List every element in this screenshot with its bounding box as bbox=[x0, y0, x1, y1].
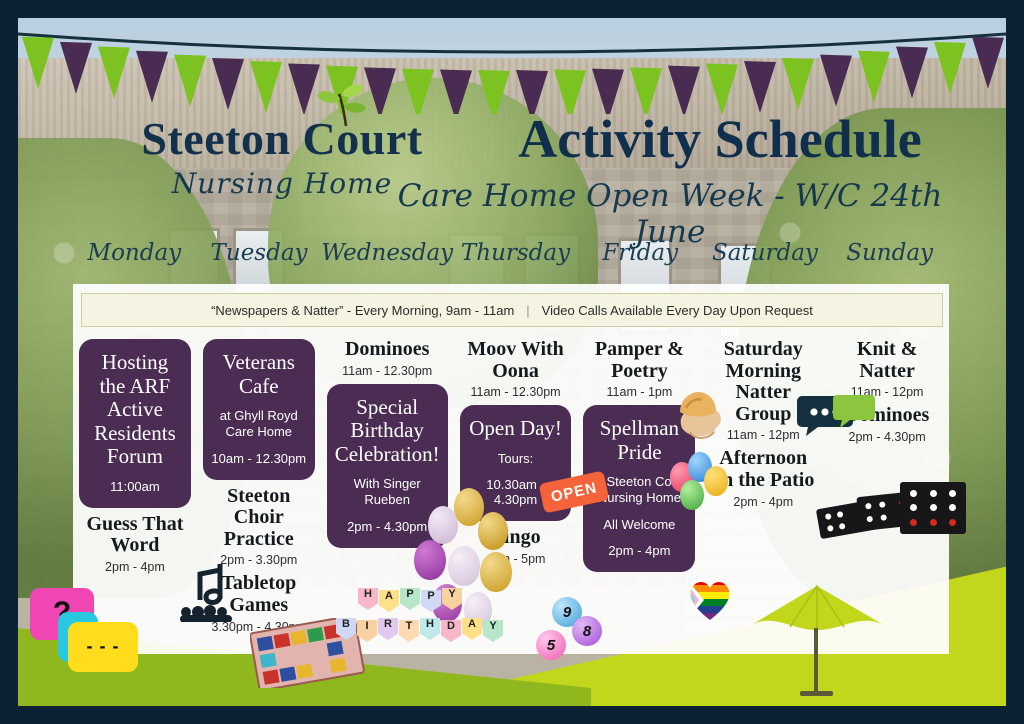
banner-left-text: “Newspapers & Natter” - Every Morning, 9… bbox=[211, 303, 514, 318]
event-title: Open Day! bbox=[468, 417, 564, 441]
dominoes-group bbox=[818, 478, 968, 550]
event-title: Special Birthday Celebration! bbox=[335, 396, 440, 467]
event-time: 11am - 12.30pm bbox=[327, 364, 448, 378]
bunting-flag: T bbox=[399, 620, 419, 642]
event-subtitle-2: All Welcome bbox=[591, 517, 687, 533]
balloon bbox=[478, 512, 508, 550]
day-header-saturday: Saturday bbox=[703, 240, 828, 266]
event-subtitle: at Ghyll Royd Care Home bbox=[211, 408, 307, 441]
event-wednesday-0[interactable]: Dominoes11am - 12.30pm bbox=[327, 339, 448, 378]
event-title: Pamper & Poetry bbox=[583, 339, 695, 382]
open-tag-label: OPEN bbox=[549, 479, 598, 505]
domino-tile bbox=[900, 482, 966, 534]
bingo-ball: 8 bbox=[572, 616, 602, 646]
banner-separator: | bbox=[526, 303, 529, 318]
event-sunday-0[interactable]: Knit & Natter11am - 12pm bbox=[831, 339, 943, 399]
event-time: 2pm - 4pm bbox=[79, 560, 191, 574]
page-title: Activity Schedule bbox=[470, 108, 970, 170]
activity-schedule-poster: Steeton Court Nursing Home Activity Sche… bbox=[0, 0, 1024, 724]
pride-balloons-group bbox=[670, 452, 728, 512]
choir-music-note-icon bbox=[176, 560, 236, 622]
day-header-monday: Monday bbox=[72, 240, 197, 266]
happy-birthday-bunting: HAPPYBIRTHDAY bbox=[336, 588, 486, 648]
event-title: Dominoes bbox=[327, 339, 448, 361]
bunting-flag: H bbox=[420, 618, 440, 640]
chat-bubble-green-icon bbox=[832, 392, 876, 430]
event-time: 11am - 12.30pm bbox=[460, 385, 572, 399]
balloon bbox=[704, 466, 728, 496]
patio-umbrella-icon bbox=[750, 578, 885, 703]
event-title: Moov With Oona bbox=[460, 339, 572, 382]
balloon bbox=[680, 480, 704, 510]
event-card-tuesday-0[interactable]: Veterans Cafeat Ghyll Royd Care Home10am… bbox=[203, 339, 315, 480]
bunting-flag: Y bbox=[442, 588, 462, 610]
banner-right-text: Video Calls Available Every Day Upon Req… bbox=[542, 303, 813, 318]
bunting-flag: B bbox=[336, 618, 356, 640]
day-header-sunday: Sunday bbox=[827, 240, 952, 266]
balloon bbox=[480, 552, 512, 592]
event-time: 10am - 12.30pm bbox=[211, 451, 307, 466]
pastry-icon bbox=[676, 388, 720, 422]
day-header-tuesday: Tuesday bbox=[197, 240, 322, 266]
bunting-flag: A bbox=[379, 590, 399, 612]
balloon bbox=[414, 540, 446, 580]
bingo-ball: 5 bbox=[536, 630, 566, 660]
daily-info-banner: “Newspapers & Natter” - Every Morning, 9… bbox=[81, 293, 943, 327]
day-header-thursday: Thursday bbox=[453, 240, 578, 266]
event-title: Hosting the ARF Active Residents Forum bbox=[87, 351, 183, 469]
event-time: 11:00am bbox=[87, 479, 183, 494]
day-header-row: MondayTuesdayWednesdayThursdayFridaySatu… bbox=[72, 240, 952, 266]
event-card-monday-0[interactable]: Hosting the ARF Active Residents Forum11… bbox=[79, 339, 191, 508]
pride-heart-icon bbox=[686, 578, 734, 622]
bunting-flag: D bbox=[441, 620, 461, 642]
day-header-friday: Friday bbox=[578, 240, 703, 266]
event-time: 2pm - 4pm bbox=[591, 543, 687, 558]
balloon bbox=[448, 546, 480, 586]
event-thursday-0[interactable]: Moov With Oona11am - 12.30pm bbox=[460, 339, 572, 399]
bunting-flag: A bbox=[462, 618, 482, 640]
event-title: Veterans Cafe bbox=[211, 351, 307, 398]
bunting-flag: R bbox=[378, 618, 398, 640]
event-title: Guess That Word bbox=[79, 514, 191, 557]
bunting-flag: P bbox=[421, 590, 441, 612]
bunting-flag: H bbox=[358, 588, 378, 610]
bunting-flag: I bbox=[357, 620, 377, 642]
event-title: Steeton Choir Practice bbox=[203, 486, 315, 551]
balloon bbox=[428, 506, 458, 544]
speech-bubble-yellow-icon: - - - bbox=[68, 622, 138, 672]
speech-bubble-dashes-text: - - - bbox=[68, 636, 138, 657]
event-tuesday-1[interactable]: Steeton Choir Practice2pm - 3.30pm bbox=[203, 486, 315, 568]
day-header-wednesday: Wednesday bbox=[321, 240, 453, 266]
bunting-flag: P bbox=[400, 588, 420, 610]
event-monday-1[interactable]: Guess That Word2pm - 4pm bbox=[79, 514, 191, 574]
event-subtitle: Tours: bbox=[468, 451, 564, 467]
logo-main-text: Steeton Court bbox=[72, 112, 492, 165]
event-title: Knit & Natter bbox=[831, 339, 943, 382]
bunting-banner bbox=[18, 18, 1006, 114]
